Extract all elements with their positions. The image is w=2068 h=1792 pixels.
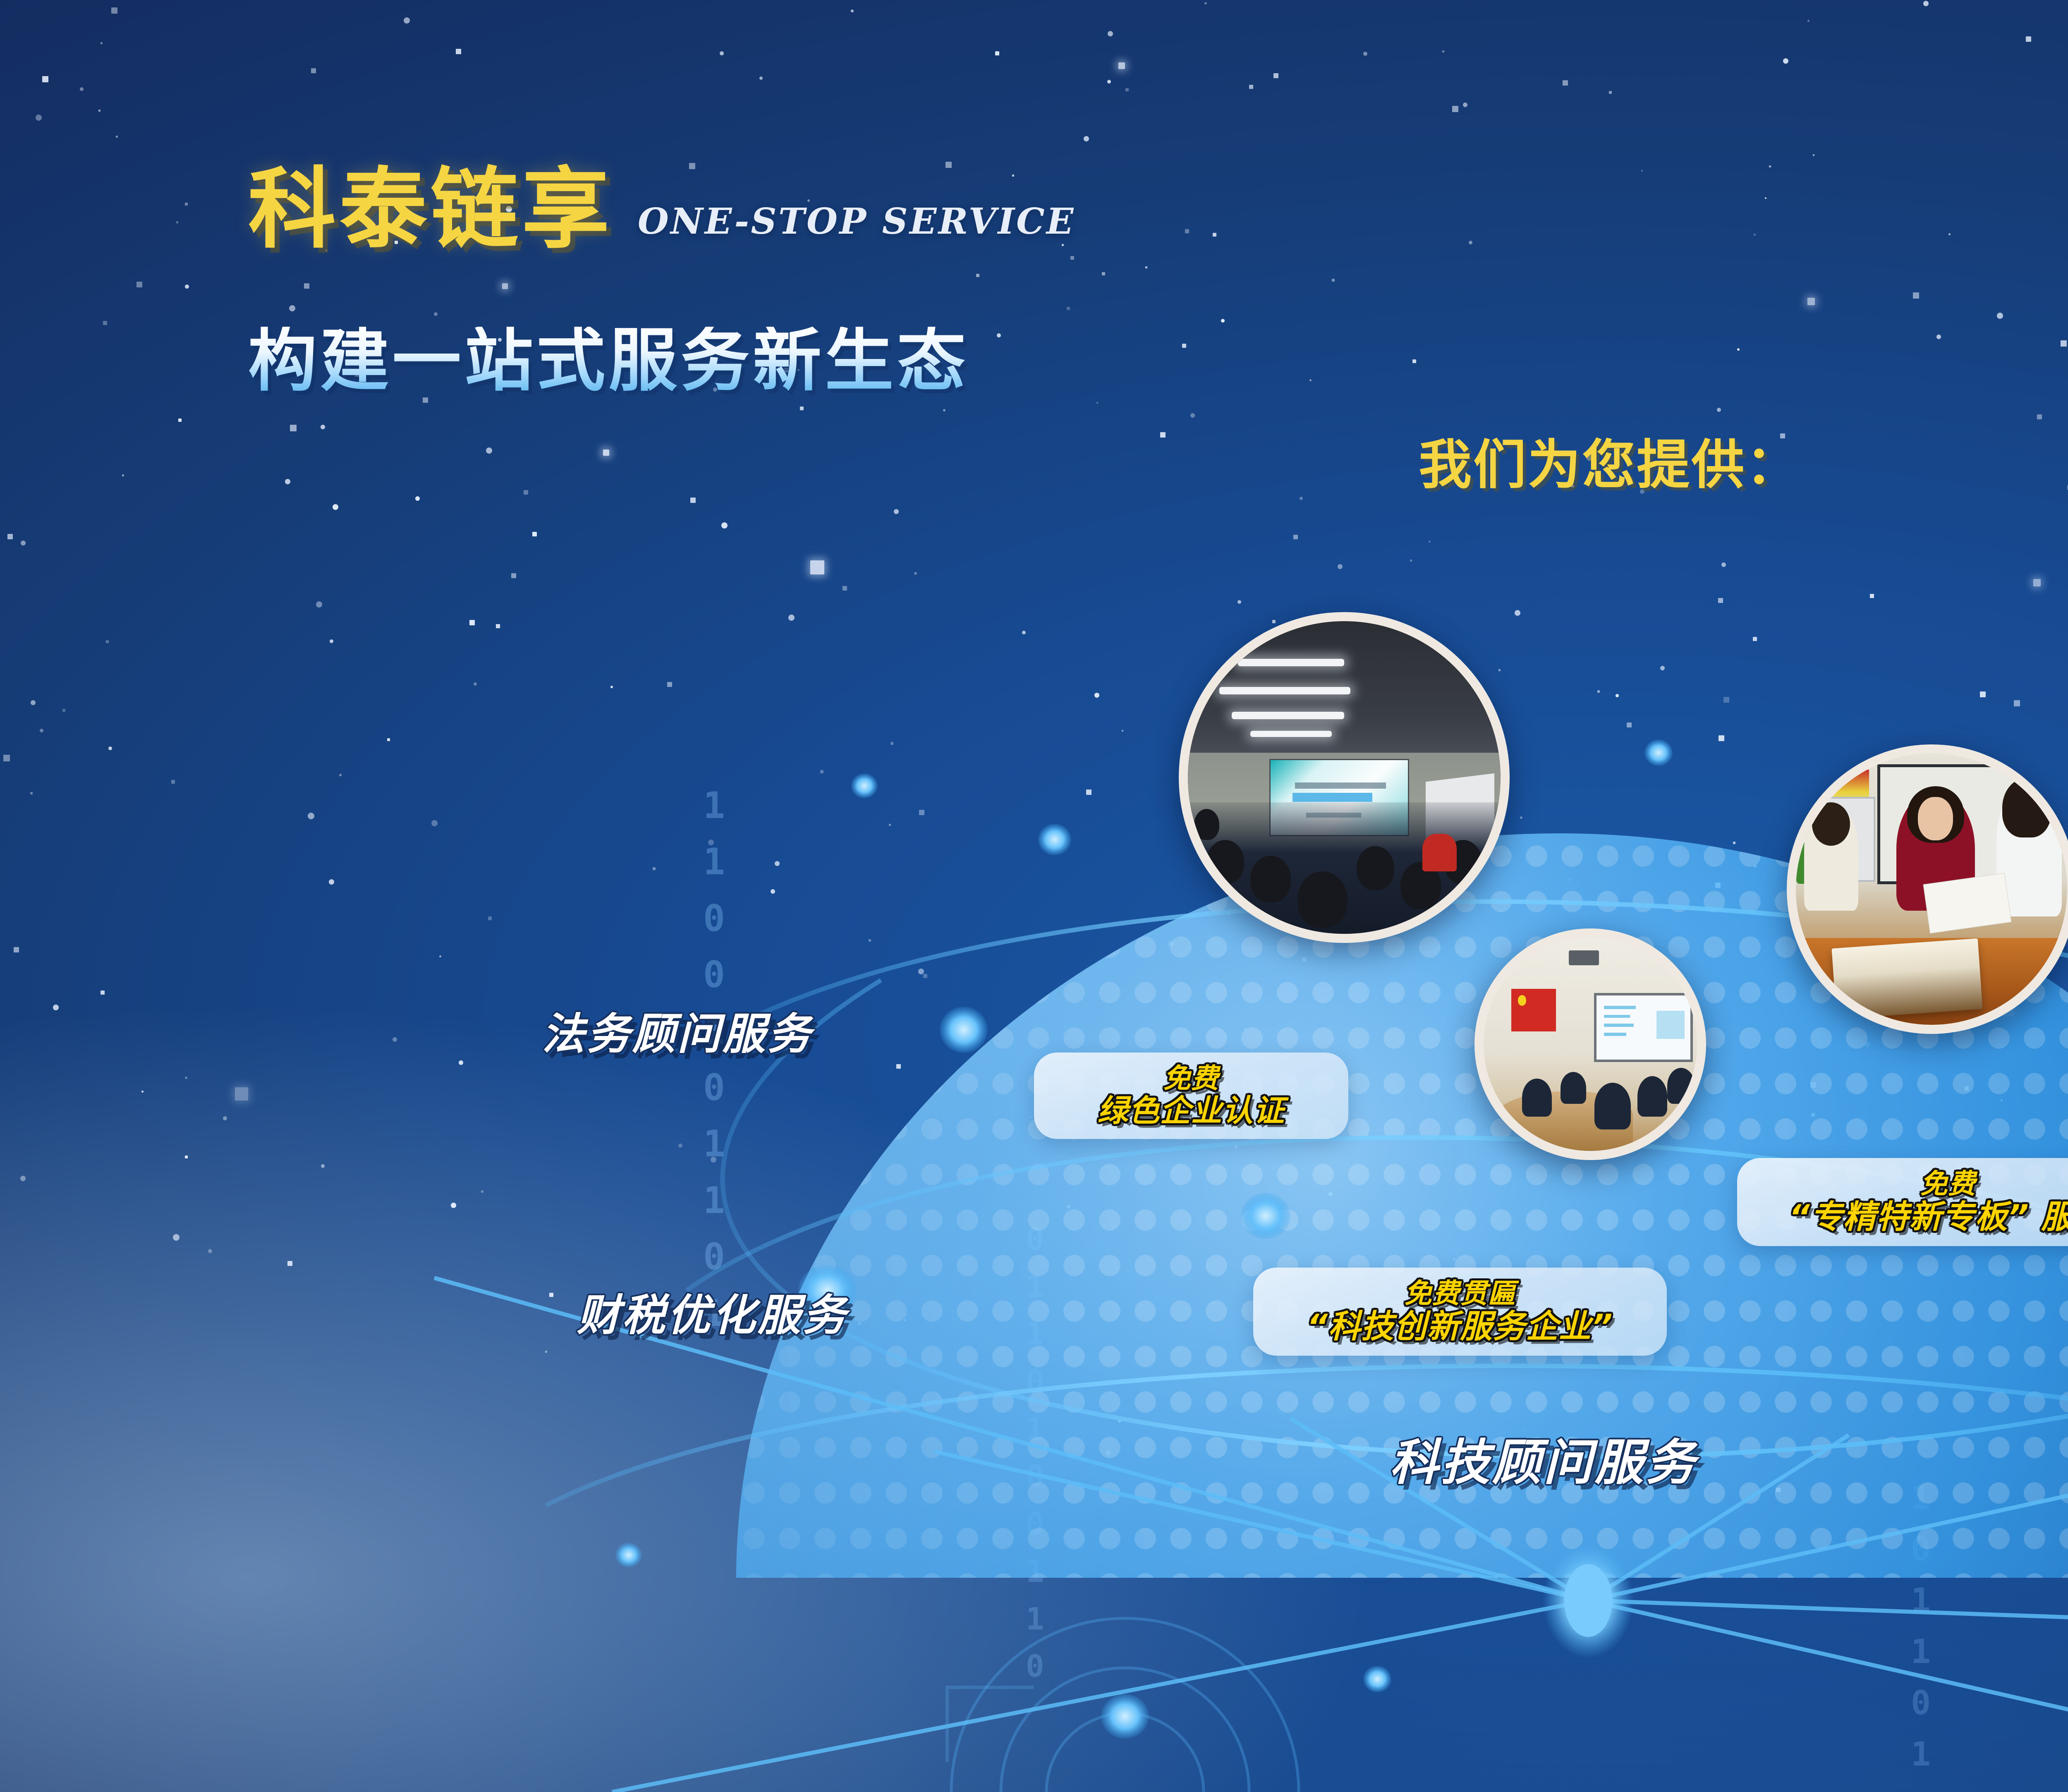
orbit-network: [0, 0, 2068, 1792]
service-label-legal[interactable]: 法务顾问服务: [542, 999, 813, 1061]
badge-tech-innovation[interactable]: 免费贯匾 “科技创新服务企业”: [1253, 1268, 1667, 1356]
service-label-fiscal[interactable]: 财税优化服务: [577, 1280, 848, 1342]
photo-seminar[interactable]: [1179, 612, 1510, 943]
binary-column-3: 1011010010: [1911, 1472, 1932, 1792]
badge-specialized-board[interactable]: 免费 “专精特新专板” 服务: [1737, 1158, 2068, 1246]
brand-title-en: ONE-STOP SERVICE: [638, 201, 1075, 242]
brand-title-cn: 科泰链享: [248, 165, 613, 253]
badge-tech-line1: 免费贯匾: [1404, 1278, 1515, 1309]
service-label-tech[interactable]: 科技顾问服务: [1390, 1423, 1697, 1493]
badge-green-certification[interactable]: 免费 绿色企业认证: [1034, 1053, 1348, 1139]
brand-lockup: 科泰链享 ONE-STOP SERVICE: [248, 165, 1075, 253]
brand-subtitle: 构建一站式服务新生态: [248, 327, 969, 395]
badge-zjtx-line1: 免费: [1920, 1169, 1976, 1199]
poster-canvas: 1100101101 0110100110 1011010010 1101011…: [0, 0, 2068, 1792]
badge-green-line2: 绿色企业认证: [1098, 1094, 1285, 1128]
badge-tech-line2: “科技创新服务企业”: [1307, 1309, 1613, 1345]
binary-column-2: 0110100110: [1026, 1216, 1045, 1690]
badge-green-line1: 免费: [1163, 1063, 1219, 1094]
badge-zjtx-line2: “专精特新专板” 服务: [1789, 1199, 2068, 1235]
starfield: [0, 0, 2068, 1792]
photo-consultation[interactable]: [1787, 744, 2068, 1034]
photo-meeting[interactable]: [1474, 928, 1706, 1160]
provide-heading: 我们为您提供：: [1419, 422, 1800, 498]
